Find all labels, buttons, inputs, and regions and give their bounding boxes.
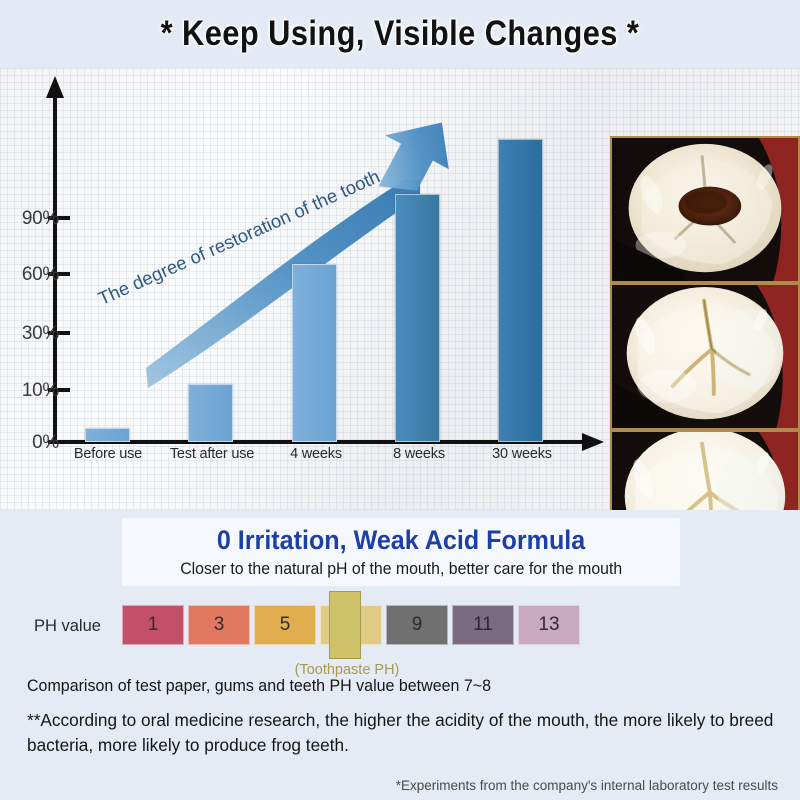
experiment-footnote: *Experiments from the company's internal… — [396, 778, 778, 793]
ph-comparison-note: Comparison of test paper, gums and teeth… — [27, 677, 491, 696]
toothpaste-ph-marker — [329, 591, 361, 659]
chart-plot-area: The degree of restoration of the tooth 9… — [0, 68, 610, 510]
title-band: * Keep Using, Visible Changes * — [0, 0, 800, 68]
chart-annotation-text: The degree of restoration of the tooth — [95, 165, 383, 309]
y-label-60: 60% — [0, 264, 59, 286]
bar-4-weeks — [292, 264, 337, 442]
y-label-0: 0% — [0, 432, 59, 454]
tooth-partially-restored-photo — [610, 283, 800, 430]
page-title: * Keep Using, Visible Changes * — [161, 14, 640, 54]
formula-subtitle: Closer to the natural pH of the mouth, b… — [180, 560, 622, 579]
formula-section: 0 Irritation, Weak Acid Formula Closer t… — [0, 510, 800, 800]
formula-title: 0 Irritation, Weak Acid Formula — [217, 525, 585, 556]
x-label-4-weeks: 4 weeks — [262, 446, 370, 462]
y-label-90: 90% — [0, 208, 59, 230]
x-label-30-weeks: 30 weeks — [466, 446, 578, 462]
bar-before-use — [85, 428, 130, 442]
restoration-chart-panel: The degree of restoration of the tooth 9… — [0, 68, 800, 510]
bar-8-weeks — [395, 194, 440, 442]
y-label-30: 30% — [0, 323, 59, 345]
ph-scale-label: PH value — [34, 617, 101, 636]
formula-callout-box: 0 Irritation, Weak Acid Formula Closer t… — [122, 518, 680, 586]
ph-cell-13: 13 — [518, 605, 580, 645]
ph-cell-3: 3 — [188, 605, 250, 645]
bar-30-weeks — [498, 139, 543, 442]
ph-cell-11: 11 — [452, 605, 514, 645]
x-label-8-weeks: 8 weeks — [365, 446, 473, 462]
growth-arrow-shaft — [146, 180, 420, 388]
toothpaste-ph-marker-label: (Toothpaste PH) — [282, 662, 412, 678]
bar-test-after-use — [188, 384, 233, 442]
y-label-10: 10% — [0, 380, 59, 402]
oral-research-note: **According to oral medicine research, t… — [27, 708, 776, 758]
x-label-before-use: Before use — [52, 446, 164, 462]
ph-scale-row: PH value 1 3 5 7 9 11 13 (Toothpaste PH) — [0, 605, 800, 651]
ph-cell-1: 1 — [122, 605, 184, 645]
x-axis-arrowhead — [582, 433, 604, 451]
ph-cell-5: 5 — [254, 605, 316, 645]
tooth-with-cavity-photo — [610, 136, 800, 283]
y-axis-arrowhead — [46, 76, 64, 98]
x-label-test-after-use: Test after use — [152, 446, 272, 462]
chart-annotation-textpath: The degree of restoration of the tooth — [95, 165, 383, 309]
ph-cell-9: 9 — [386, 605, 448, 645]
